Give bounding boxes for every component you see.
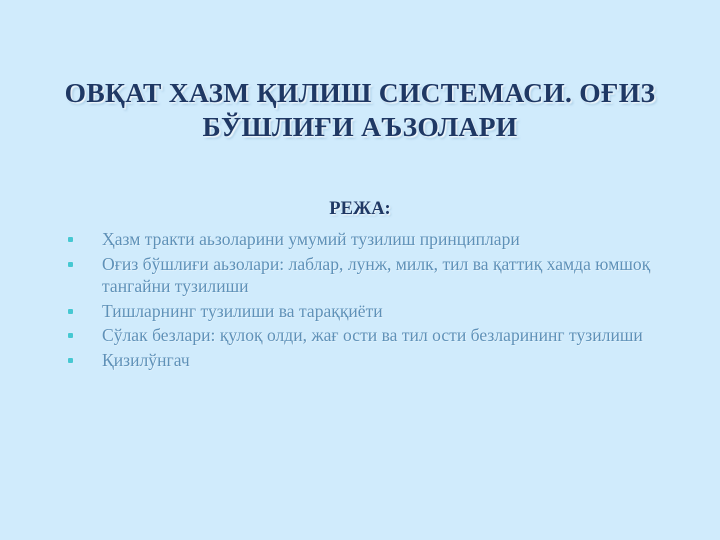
list-item: Тишларнинг тузилиши ва тараққиёти: [64, 300, 676, 323]
plan-heading: РЕЖА:: [46, 199, 674, 220]
list-item: Қизилўнгач: [64, 349, 676, 372]
bullet-dot-icon: [68, 262, 73, 267]
bullet-dot-icon: [68, 237, 73, 242]
list-item-label: Тишларнинг тузилиши ва тараққиёти: [102, 300, 676, 323]
bullet-dot-icon: [68, 309, 73, 314]
list-item-label: Қизилўнгач: [102, 349, 676, 372]
title-block: ОВҚАТ ХАЗМ ҚИЛИШ СИСТЕМАСИ. ОҒИЗ БЎШЛИҒИ…: [46, 76, 674, 143]
list-item-label: Ҳазм тракти аьзоларини умумий тузилиш пр…: [102, 228, 676, 251]
plan-bullet-list: Ҳазм тракти аьзоларини умумий тузилиш пр…: [64, 228, 676, 373]
bullet-dot-icon: [68, 333, 73, 338]
list-item-label: Сўлак безлари: қулоқ олди, жағ ости ва т…: [102, 324, 676, 347]
list-item: Ҳазм тракти аьзоларини умумий тузилиш пр…: [64, 228, 676, 251]
list-item: Оғиз бўшлиғи аьзолари: лаблар, лунж, мил…: [64, 253, 676, 298]
presentation-slide: ОВҚАТ ХАЗМ ҚИЛИШ СИСТЕМАСИ. ОҒИЗ БЎШЛИҒИ…: [0, 0, 720, 540]
bullet-dot-icon: [68, 358, 73, 363]
page-title: ОВҚАТ ХАЗМ ҚИЛИШ СИСТЕМАСИ. ОҒИЗ БЎШЛИҒИ…: [46, 76, 674, 143]
list-item: Сўлак безлари: қулоқ олди, жағ ости ва т…: [64, 324, 676, 347]
list-item-label: Оғиз бўшлиғи аьзолари: лаблар, лунж, мил…: [102, 253, 676, 298]
